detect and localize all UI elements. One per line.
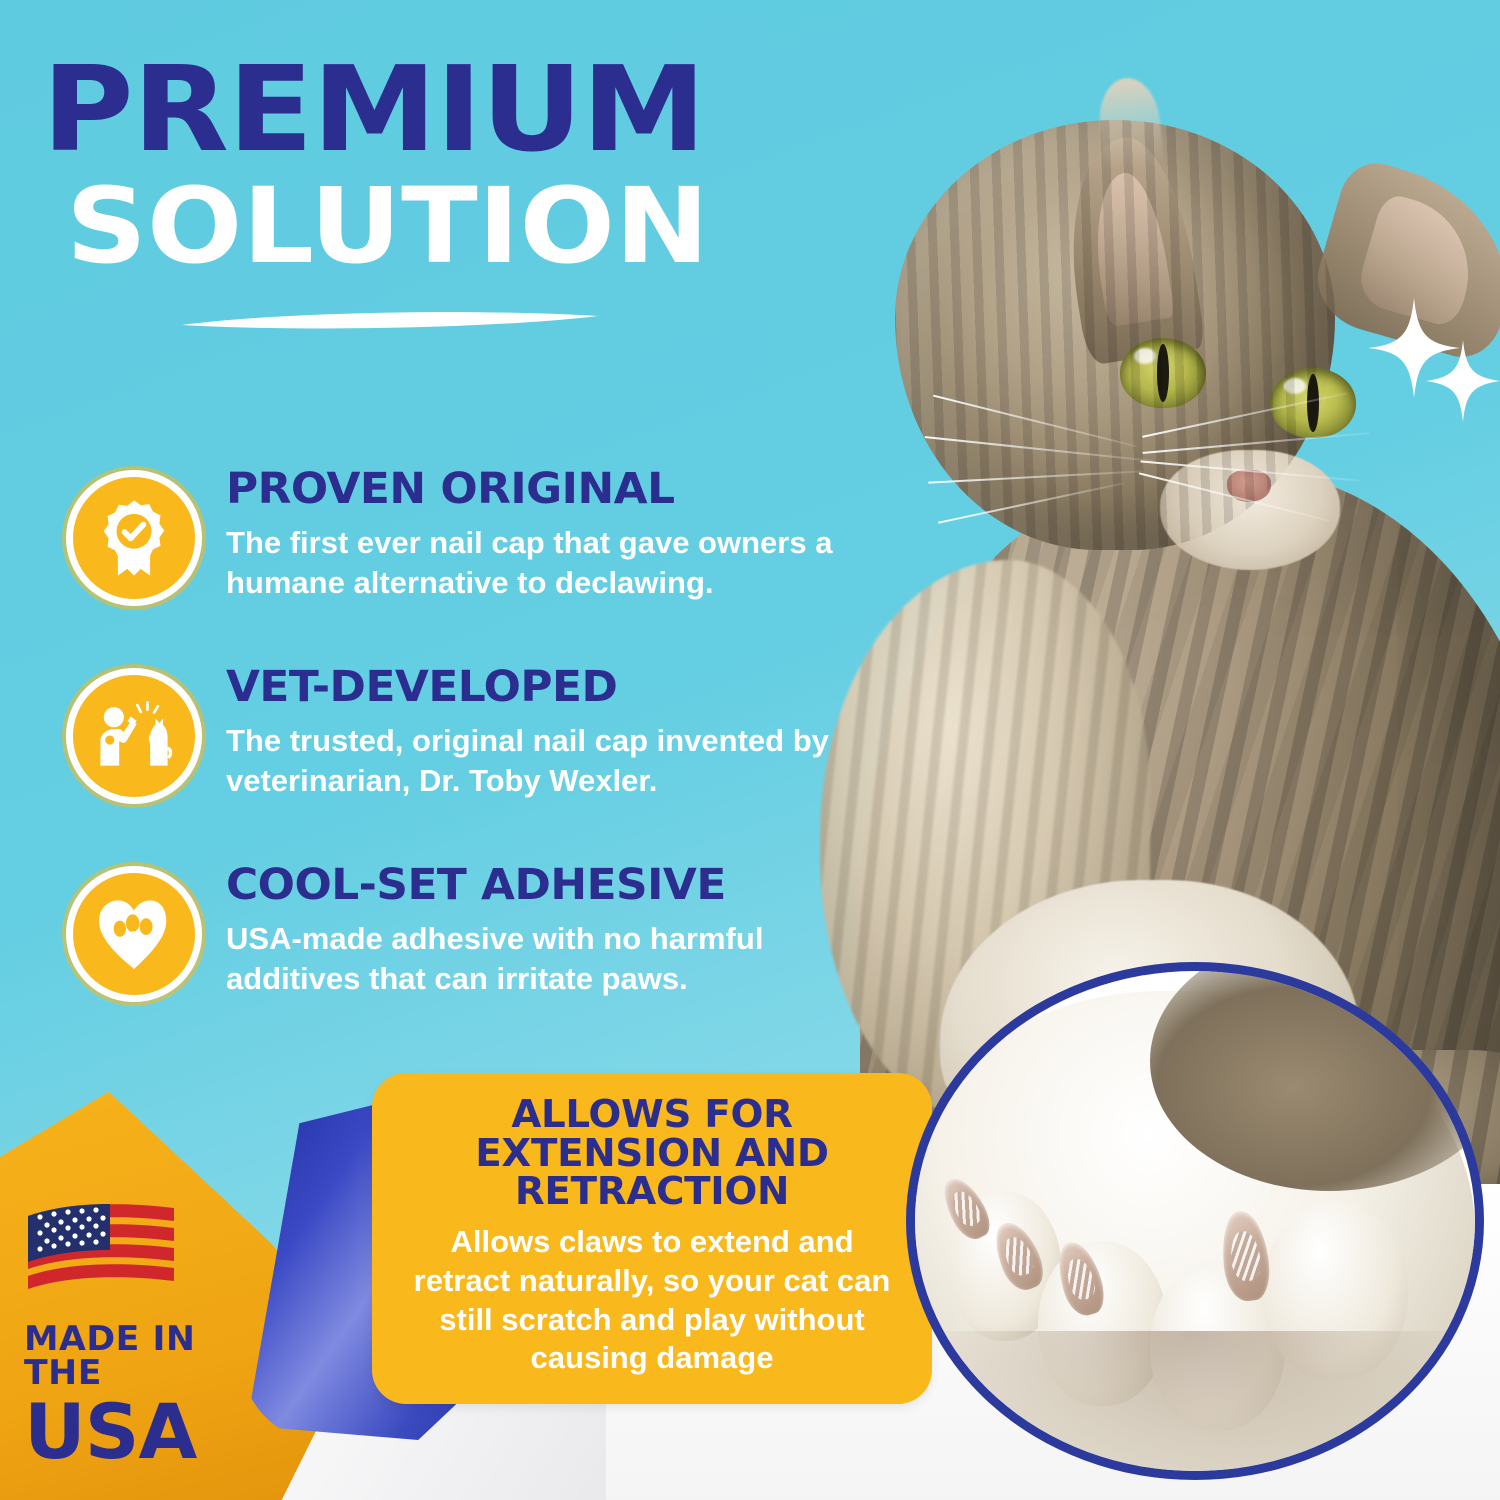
product-feature-poster: PREMIUM SOLUTION [0,0,1500,1500]
cat-ear-left [1054,130,1207,366]
feature-item-proven-original: PROVEN ORIGINAL The first ever nail cap … [58,462,858,614]
feature-title: COOL-SET ADHESIVE [226,864,871,907]
headline-line-1: PREMIUM [42,52,901,168]
callout-title: ALLOWS FOR EXTENSION AND RETRACTION [393,1095,911,1211]
headline-line-2: SOLUTION [66,174,915,278]
feature-item-vet-developed: VET-DEVELOPED The trusted, original nail… [58,660,858,812]
award-ribbon-icon [58,462,210,614]
cat-ear-tuft [1095,75,1164,171]
paw-closeup-inset [906,962,1484,1480]
headline: PREMIUM SOLUTION [42,52,852,278]
feature-list: PROVEN ORIGINAL The first ever nail cap … [58,462,858,1056]
callout-box: ALLOWS FOR EXTENSION AND RETRACTION Allo… [372,1073,932,1404]
heart-paw-icon [58,858,210,1010]
made-in-usa-line-2: USA [24,1394,254,1470]
cat-nose [1227,470,1271,502]
feature-description: The trusted, original nail cap invented … [226,721,858,800]
sparkle-star-small-icon [1424,338,1500,424]
feature-title: VET-DEVELOPED [226,666,871,709]
feature-description: The first ever nail cap that gave owners… [226,523,858,602]
made-in-usa-line-1: MADE IN THE [24,1322,259,1390]
swoosh-underline-icon [180,308,600,334]
cat-muzzle [1160,450,1340,570]
feature-description: USA-made adhesive with no harmful additi… [226,919,858,998]
feature-item-cool-set-adhesive: COOL-SET ADHESIVE USA-made adhesive with… [58,858,858,1010]
cat-head [895,120,1335,550]
cat-eye-left [1120,338,1206,408]
callout-description: Allows claws to extend and retract natur… [398,1223,906,1378]
feature-title: PROVEN ORIGINAL [226,468,871,511]
made-in-usa-badge: MADE IN THE USA [24,1196,254,1470]
cat-eye-right [1270,368,1356,438]
us-flag-icon [24,1196,214,1308]
vet-high-five-cat-icon [58,660,210,812]
paw-fur-edge [915,1331,1475,1480]
